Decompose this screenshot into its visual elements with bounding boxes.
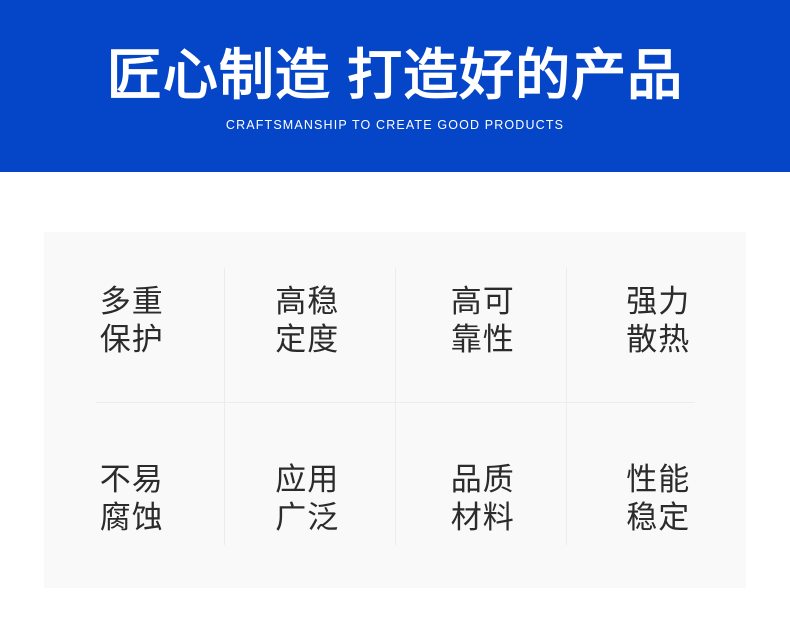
- feature-label: 强力 散热: [626, 283, 690, 359]
- header-banner: 匠心制造 打造好的产品 CRAFTSMANSHIP TO CREATE GOOD…: [0, 0, 790, 172]
- feature-label: 品质 材料: [451, 461, 515, 537]
- feature-label: 应用 广泛: [275, 461, 339, 537]
- banner-title: 匠心制造 打造好的产品: [0, 43, 790, 107]
- feature-label: 高稳 定度: [275, 283, 339, 359]
- feature-label: 不易 腐蚀: [100, 461, 164, 537]
- feature-cell: 高稳 定度: [220, 232, 396, 410]
- feature-cell: 性能 稳定: [571, 410, 747, 588]
- feature-cell: 品质 材料: [395, 410, 571, 588]
- feature-label: 多重 保护: [100, 283, 164, 359]
- features-grid: 多重 保护 高稳 定度 高可 靠性 强力 散热 不易 腐蚀 应用 广泛 品质 材…: [44, 232, 746, 588]
- feature-label: 性能 稳定: [626, 461, 690, 537]
- product-feature-page: 匠心制造 打造好的产品 CRAFTSMANSHIP TO CREATE GOOD…: [0, 0, 790, 644]
- features-panel: 多重 保护 高稳 定度 高可 靠性 强力 散热 不易 腐蚀 应用 广泛 品质 材…: [44, 232, 746, 588]
- feature-cell: 强力 散热: [571, 232, 747, 410]
- feature-cell: 应用 广泛: [220, 410, 396, 588]
- feature-cell: 高可 靠性: [395, 232, 571, 410]
- feature-label: 高可 靠性: [451, 283, 515, 359]
- feature-cell: 不易 腐蚀: [44, 410, 220, 588]
- banner-subtitle: CRAFTSMANSHIP TO CREATE GOOD PRODUCTS: [0, 117, 790, 133]
- feature-cell: 多重 保护: [44, 232, 220, 410]
